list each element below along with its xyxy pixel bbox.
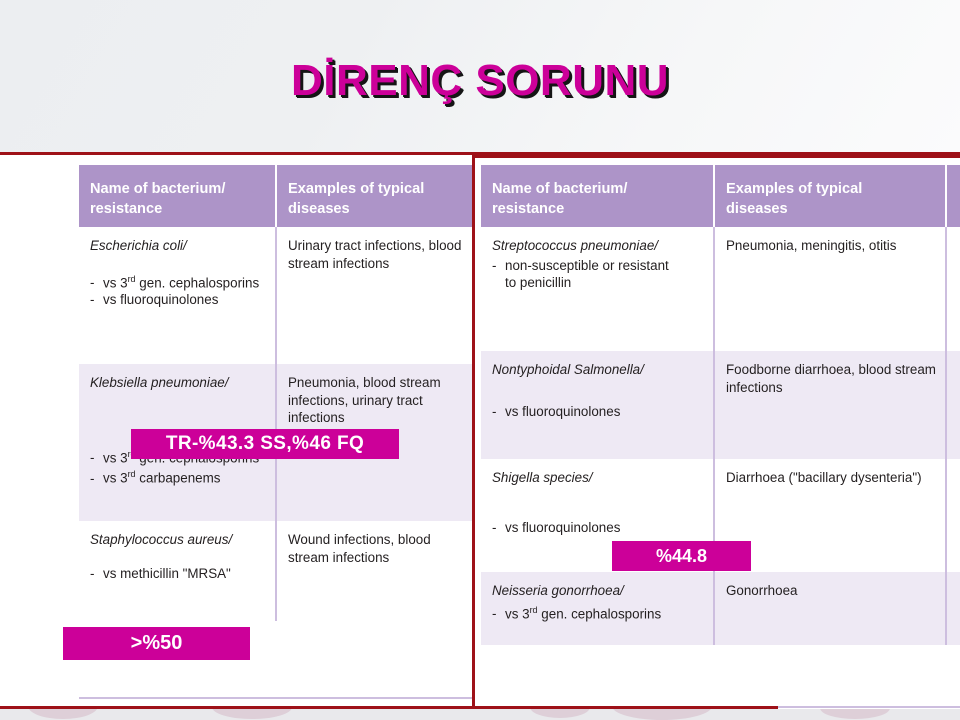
organism-name: Shigella species/ [492, 469, 704, 487]
table-bottom-edge [79, 697, 472, 699]
resistance-item-cont: to penicillin [492, 274, 704, 292]
organism-name: Escherichia coli/ [90, 237, 266, 255]
cell-bacterium: Streptococcus pneumoniae/ -non-susceptib… [481, 227, 715, 351]
column-header-bacterium: Name of bacterium/ resistance [481, 165, 715, 227]
organism-name: Klebsiella pneumoniae/ [90, 374, 266, 392]
resistance-item: -vs 3rd gen. cephalosporins [90, 271, 266, 292]
callout-tr-resistance: TR-%43.3 SS,%46 FQ [131, 429, 399, 459]
organism-name: Streptococcus pneumoniae/ [492, 237, 704, 255]
callout-over-fifty: >%50 [63, 627, 250, 660]
column-header-diseases: Examples of typical diseases [715, 165, 947, 227]
resistance-item: -vs methicillin "MRSA" [90, 565, 266, 583]
slide-body: Name of bacterium/ resistance Examples o… [0, 155, 960, 720]
cell-bacterium: Nontyphoidal Salmonella/ -vs fluoroquino… [481, 351, 715, 459]
right-resistance-table: Name of bacterium/ resistance Examples o… [481, 165, 960, 645]
table-row: Escherichia coli/ -vs 3rd gen. cephalosp… [79, 227, 472, 364]
resistance-item: -vs fluoroquinolones [90, 291, 266, 309]
resistance-item: -vs fluoroquinolones [492, 403, 704, 421]
table-row: Nontyphoidal Salmonella/ -vs fluoroquino… [481, 351, 960, 459]
header-line-1: Name of bacterium/ [90, 181, 225, 197]
watermark-circle [530, 709, 590, 718]
column-header-diseases: Examples of typical diseases [277, 165, 472, 227]
table-row: Streptococcus pneumoniae/ -non-susceptib… [481, 227, 960, 351]
header-line-1: Examples of typical [288, 181, 424, 197]
cell-diseases: Foodborne diarrhoea, blood stream infect… [715, 351, 947, 459]
header-line-2: diseases [726, 201, 788, 217]
organism-name: Neisseria gonorrhoea/ [492, 582, 704, 600]
table-header-row: Name of bacterium/ resistance Examples o… [79, 165, 472, 227]
cell-cutoff [947, 227, 960, 351]
cell-cutoff [947, 351, 960, 459]
cell-diseases: Wound infections, blood stream infection… [277, 521, 472, 621]
resistance-item: -non-susceptible or resistant [492, 257, 704, 275]
header-line-2: resistance [90, 201, 162, 217]
table-header-row: Name of bacterium/ resistance Examples o… [481, 165, 960, 227]
watermark-circle [820, 709, 890, 719]
table-row: Neisseria gonorrhoea/ -vs 3rd gen. cepha… [481, 572, 960, 645]
header-line-2: resistance [492, 201, 564, 217]
watermark-circle [612, 709, 712, 720]
table-row: Staphylococcus aureus/ -vs methicillin "… [79, 521, 472, 621]
cell-bacterium: Staphylococcus aureus/ -vs methicillin "… [79, 521, 277, 621]
cell-bacterium: Neisseria gonorrhoea/ -vs 3rd gen. cepha… [481, 572, 715, 645]
column-header-cutoff [947, 165, 960, 227]
slide-canvas: DİRENÇ SORUNU Name of bacterium/ resista… [0, 0, 960, 720]
header-line-1: Name of bacterium/ [492, 181, 627, 197]
cell-cutoff [947, 459, 960, 572]
organism-name: Nontyphoidal Salmonella/ [492, 361, 704, 379]
cell-cutoff [947, 572, 960, 645]
watermark-circle [28, 709, 98, 719]
header-line-1: Examples of typical [726, 181, 862, 197]
header-line-2: diseases [288, 201, 350, 217]
footer-watermark-strip [0, 709, 960, 720]
column-header-bacterium: Name of bacterium/ resistance [79, 165, 277, 227]
watermark-circle [212, 709, 292, 719]
cell-diseases: Pneumonia, meningitis, otitis [715, 227, 947, 351]
cell-bacterium: Escherichia coli/ -vs 3rd gen. cephalosp… [79, 227, 277, 364]
resistance-item: -vs 3rd carbapenems [90, 466, 266, 487]
left-resistance-table: Name of bacterium/ resistance Examples o… [79, 165, 472, 621]
organism-name: Staphylococcus aureus/ [90, 531, 266, 549]
callout-44-8: %44.8 [612, 541, 751, 571]
page-title: DİRENÇ SORUNU [0, 52, 960, 114]
cell-diseases: Gonorrhoea [715, 572, 947, 645]
resistance-item: -vs fluoroquinolones [492, 519, 704, 537]
resistance-item: -vs 3rd gen. cephalosporins [492, 602, 704, 623]
cell-diseases: Urinary tract infections, blood stream i… [277, 227, 472, 364]
